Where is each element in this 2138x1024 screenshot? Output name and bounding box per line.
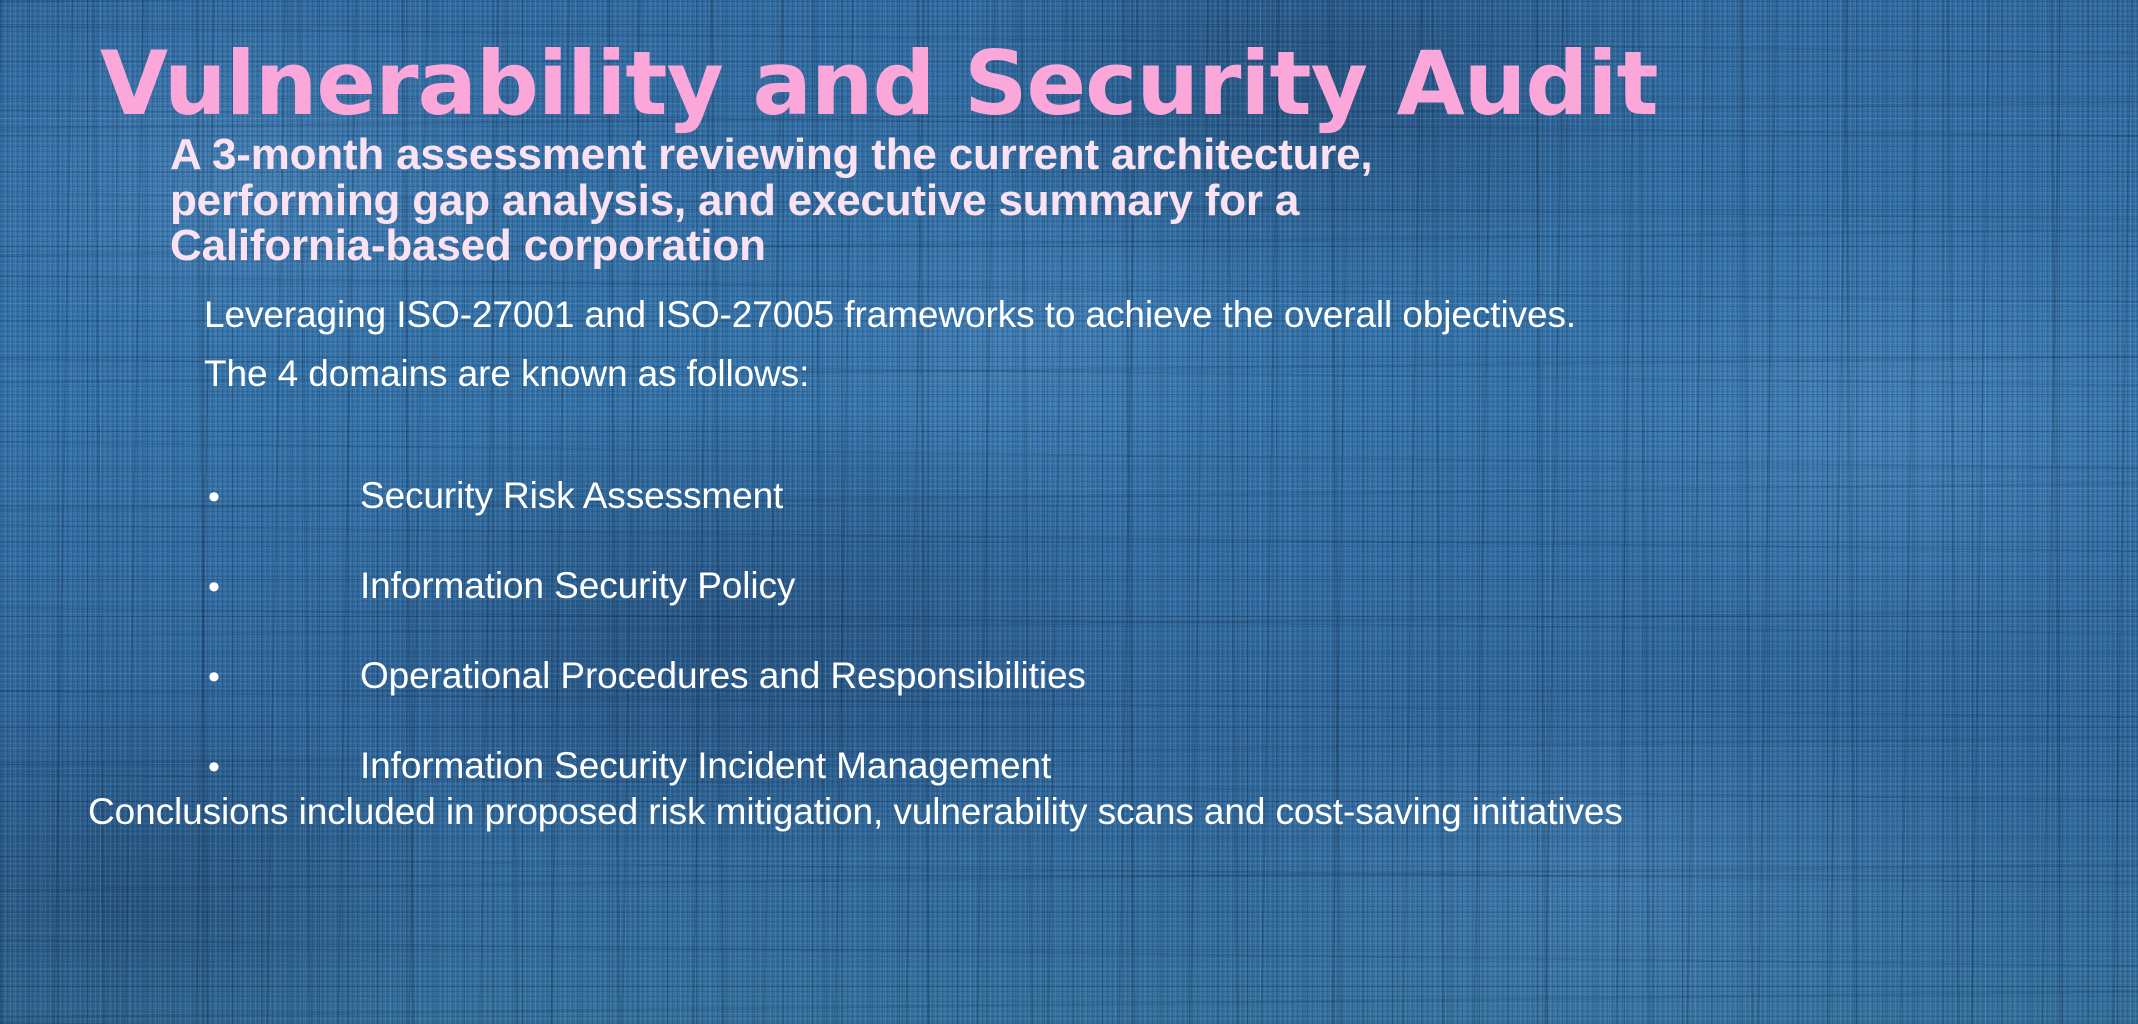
list-item: • Security Risk Assessment bbox=[204, 475, 2004, 520]
bullet-gap-3 bbox=[204, 700, 2004, 745]
slide-subtitle: A 3-month assessment reviewing the curre… bbox=[170, 132, 1490, 269]
bullet-gap-1 bbox=[204, 520, 2004, 565]
bullet-dot-icon: • bbox=[204, 750, 360, 784]
bullet-gap-2 bbox=[204, 610, 2004, 655]
bullet-label-incident-management: Information Security Incident Management bbox=[360, 745, 2004, 787]
bullet-list-offset-2 bbox=[204, 430, 2004, 475]
list-item: • Information Security Policy bbox=[204, 565, 2004, 610]
presentation-slide: Vulnerability and Security Audit A 3-mon… bbox=[0, 0, 2138, 1024]
domain-bullet-list: • Security Risk Assessment • Information… bbox=[204, 385, 2004, 790]
bullet-label-operational-procedures: Operational Procedures and Responsibilit… bbox=[360, 655, 2004, 697]
bullet-label-security-risk-assessment: Security Risk Assessment bbox=[360, 475, 2004, 517]
list-item: • Operational Procedures and Responsibil… bbox=[204, 655, 2004, 700]
slide-title: Vulnerability and Security Audit bbox=[100, 36, 2060, 131]
bullet-dot-icon: • bbox=[204, 570, 360, 604]
bullet-dot-icon: • bbox=[204, 480, 360, 514]
subtitle-line-2: performing gap analysis, and executive s… bbox=[170, 178, 1490, 224]
bullet-label-information-security-policy: Information Security Policy bbox=[360, 565, 2004, 607]
bullet-list-offset bbox=[204, 385, 2004, 430]
bullet-dot-icon: • bbox=[204, 660, 360, 694]
body-line-frameworks: Leveraging ISO-27001 and ISO-27005 frame… bbox=[204, 292, 2004, 337]
slide-footer-conclusions: Conclusions included in proposed risk mi… bbox=[88, 790, 2088, 834]
subtitle-line-3: California-based corporation bbox=[170, 223, 1490, 269]
list-item: • Information Security Incident Manageme… bbox=[204, 745, 2004, 790]
subtitle-line-1: A 3-month assessment reviewing the curre… bbox=[170, 132, 1490, 178]
